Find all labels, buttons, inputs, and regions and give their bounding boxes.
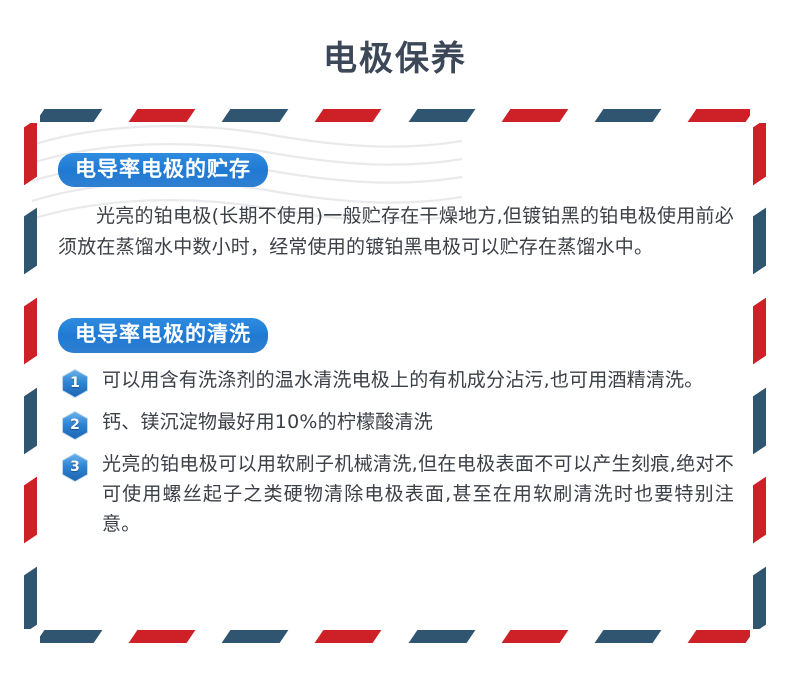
border-dash — [24, 298, 37, 365]
section-heading-cleaning: 电导率电极的清洗 — [58, 318, 268, 352]
border-dash — [753, 123, 766, 185]
hexagon-number-icon: 3 — [62, 453, 88, 482]
border-dash — [40, 630, 102, 643]
hexagon-number-icon: 2 — [62, 411, 88, 440]
border-dash — [501, 630, 568, 643]
border-dash — [753, 298, 766, 365]
section-heading-storage: 电导率电极的贮存 — [58, 153, 268, 187]
border-dash — [688, 109, 750, 122]
border-dash — [24, 123, 37, 185]
frame-border-top — [40, 109, 750, 122]
border-dash — [753, 208, 766, 275]
list-item-text: 可以用含有洗涤剂的温水清洗电极上的有机成分沾污,也可用酒精清洗。 — [102, 365, 734, 395]
border-dash — [501, 109, 568, 122]
border-dash — [24, 566, 37, 628]
border-dash — [129, 630, 196, 643]
frame-border-right — [753, 123, 766, 629]
border-dash — [24, 387, 37, 454]
border-dash — [40, 109, 102, 122]
list-item: 2 钙、镁沉淀物最好用10%的柠檬酸清洗 — [58, 407, 734, 440]
border-dash — [753, 477, 766, 544]
storage-paragraph: 光亮的铂电极(长期不使用)一般贮存在干燥地方,但镀铂黑的铂电极使用前必须放在蒸馏… — [58, 201, 734, 263]
border-dash — [594, 630, 661, 643]
frame-border-left — [24, 123, 37, 629]
border-dash — [408, 630, 475, 643]
hexagon-number-icon: 1 — [62, 369, 88, 398]
card-content: 电导率电极的贮存 光亮的铂电极(长期不使用)一般贮存在干燥地方,但镀铂黑的铂电极… — [58, 153, 734, 549]
border-dash — [408, 109, 475, 122]
badge-number: 2 — [62, 411, 88, 440]
list-item-text: 钙、镁沉淀物最好用10%的柠檬酸清洗 — [102, 407, 734, 437]
border-dash — [222, 109, 289, 122]
page-title: 电极保养 — [0, 23, 790, 80]
list-item-text: 光亮的铂电极可以用软刷子机械清洗,但在电极表面不可以产生刻痕,绝对不可使用螺丝起… — [102, 449, 734, 540]
border-dash — [594, 109, 661, 122]
cleaning-list: 1 可以用含有洗涤剂的温水清洗电极上的有机成分沾污,也可用酒精清洗。 2 钙、镁… — [58, 365, 734, 540]
border-dash — [688, 630, 750, 643]
decorative-frame: 电导率电极的贮存 光亮的铂电极(长期不使用)一般贮存在干燥地方,但镀铂黑的铂电极… — [22, 107, 768, 645]
section-storage: 电导率电极的贮存 光亮的铂电极(长期不使用)一般贮存在干燥地方,但镀铂黑的铂电极… — [58, 153, 734, 263]
frame-border-bottom — [40, 630, 750, 643]
border-dash — [753, 387, 766, 454]
border-dash — [24, 477, 37, 544]
border-dash — [129, 109, 196, 122]
list-item: 3 光亮的铂电极可以用软刷子机械清洗,但在电极表面不可以产生刻痕,绝对不可使用螺… — [58, 449, 734, 540]
border-dash — [315, 630, 382, 643]
section-cleaning: 电导率电极的清洗 — [58, 318, 734, 539]
badge-number: 1 — [62, 369, 88, 398]
border-dash — [222, 630, 289, 643]
badge-number: 3 — [62, 453, 88, 482]
list-item: 1 可以用含有洗涤剂的温水清洗电极上的有机成分沾污,也可用酒精清洗。 — [58, 365, 734, 398]
border-dash — [315, 109, 382, 122]
border-dash — [24, 208, 37, 275]
border-dash — [753, 566, 766, 628]
